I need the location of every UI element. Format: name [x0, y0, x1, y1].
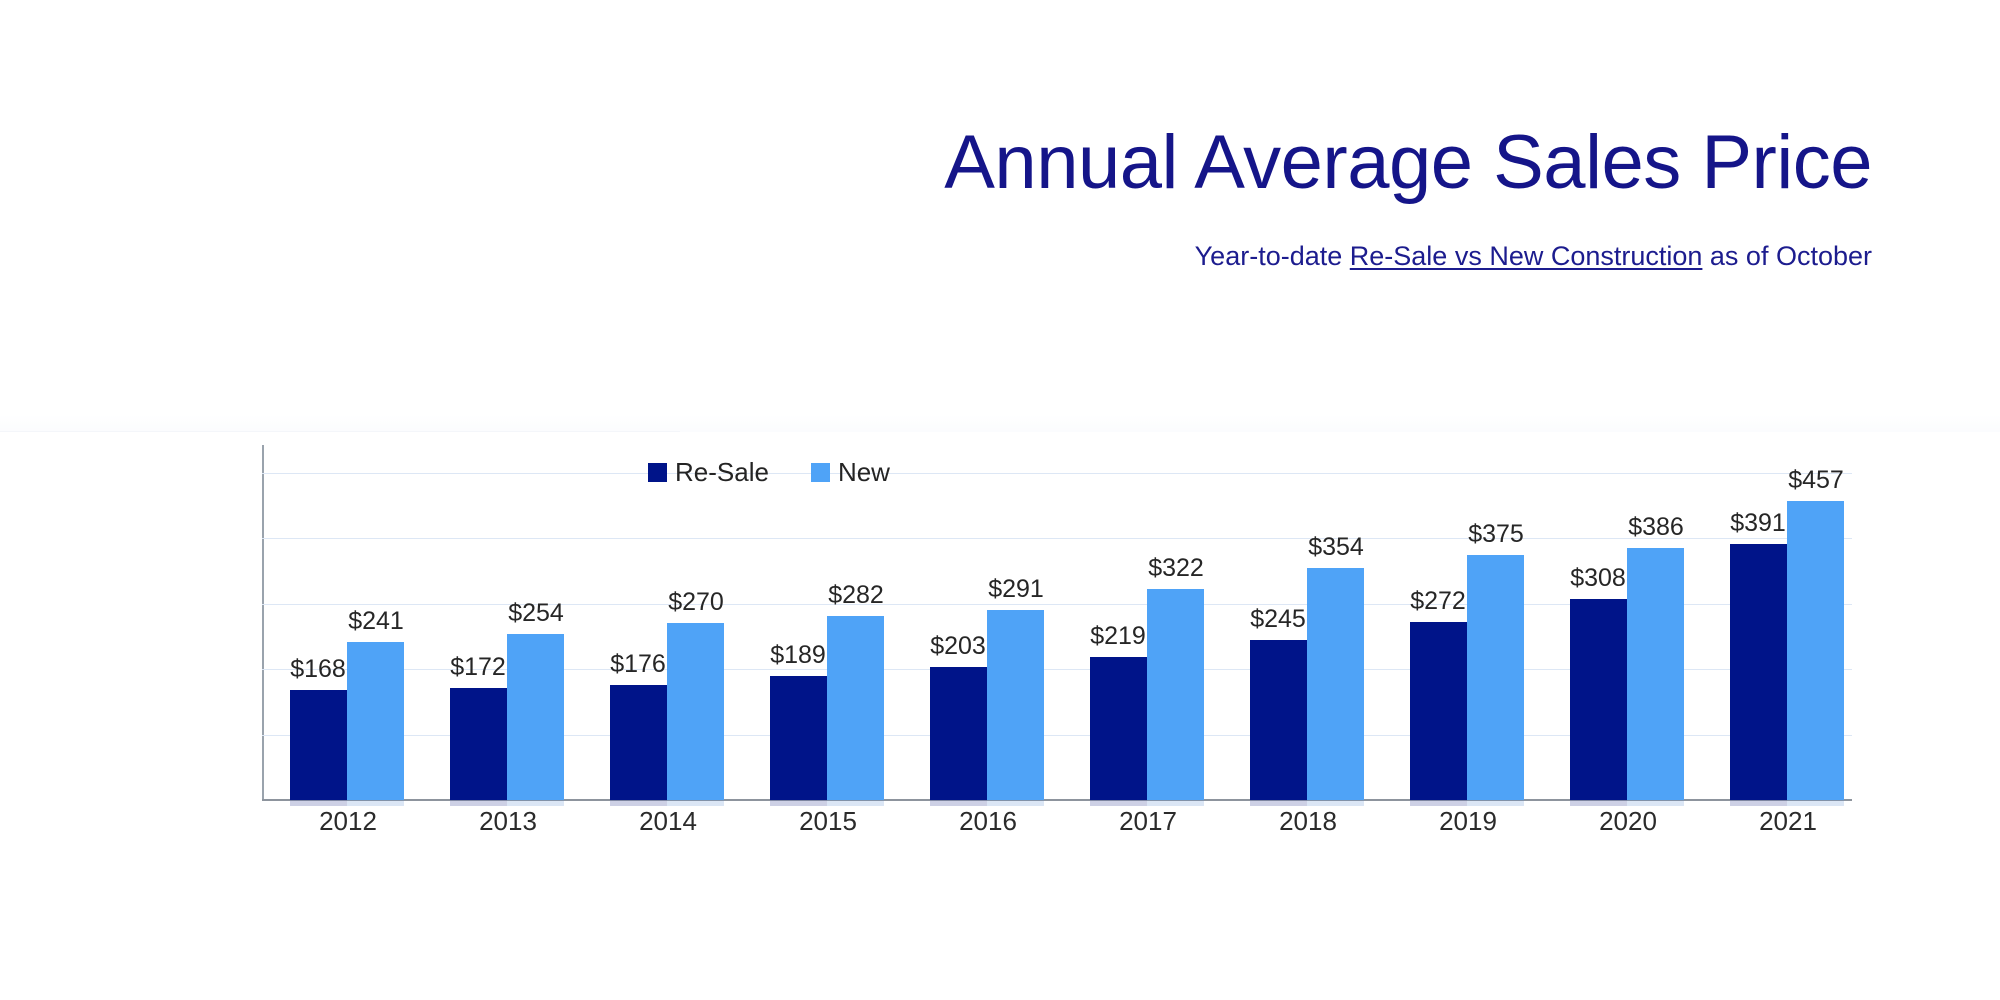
subtitle-underlined-text: Re-Sale vs New Construction [1350, 241, 1703, 271]
x-axis-category-label: 2018 [1228, 808, 1388, 834]
bar-new[interactable] [1467, 555, 1524, 800]
bar-value-label-new: $241 [336, 609, 416, 634]
x-axis-category-label: 2014 [588, 808, 748, 834]
bar-value-label-resale: $203 [918, 634, 998, 659]
bar-new[interactable] [667, 623, 724, 800]
bar-value-label-new: $375 [1456, 522, 1536, 547]
bar-group: $391$4572021 [1708, 473, 1868, 800]
legend-item-new[interactable]: New [811, 459, 890, 485]
bar-group: $219$3222017 [1068, 473, 1228, 800]
bar-resale[interactable] [290, 690, 347, 800]
bar-value-label-resale: $172 [438, 655, 518, 680]
bar-resale[interactable] [1250, 640, 1307, 800]
bar-value-label-new: $291 [976, 577, 1056, 602]
bar-resale[interactable] [930, 667, 987, 800]
bar-value-label-resale: $245 [1238, 607, 1318, 632]
bar-group: $308$3862020 [1548, 473, 1708, 800]
bar-chart-plot-area: $0K$100K$200K$300K$400K$500K$168$2412012… [262, 473, 1852, 800]
bar-resale[interactable] [1090, 657, 1147, 800]
bar-group: $172$2542013 [428, 473, 588, 800]
page-subtitle: Year-to-date Re-Sale vs New Construction… [1195, 243, 1872, 270]
subtitle-suffix: as of October [1702, 241, 1872, 271]
x-axis-category-label: 2016 [908, 808, 1068, 834]
bar-value-label-new: $282 [816, 583, 896, 608]
chart-legend: Re-Sale New [648, 459, 890, 485]
bar-group: $176$2702014 [588, 473, 748, 800]
bar-value-label-resale: $189 [758, 643, 838, 668]
bar-new[interactable] [1627, 548, 1684, 800]
x-axis-category-label: 2015 [748, 808, 908, 834]
bar-new[interactable] [987, 610, 1044, 800]
x-axis-category-label: 2019 [1388, 808, 1548, 834]
subtitle-prefix: Year-to-date [1195, 241, 1350, 271]
bar-new[interactable] [1147, 589, 1204, 800]
x-axis-category-label: 2012 [268, 808, 428, 834]
legend-item-resale[interactable]: Re-Sale [648, 459, 769, 485]
bar-value-label-new: $254 [496, 601, 576, 626]
bar-value-label-resale: $391 [1718, 511, 1798, 536]
bar-value-label-new: $270 [656, 590, 736, 615]
bar-value-label-new: $354 [1296, 535, 1376, 560]
bar-new[interactable] [827, 616, 884, 800]
bar-resale[interactable] [1730, 544, 1787, 800]
x-axis-category-label: 2020 [1548, 808, 1708, 834]
bar-value-label-new: $322 [1136, 556, 1216, 581]
legend-label-new: New [838, 459, 890, 485]
bar-resale[interactable] [770, 676, 827, 800]
x-axis-category-label: 2017 [1068, 808, 1228, 834]
bar-group: $272$3752019 [1388, 473, 1548, 800]
slide-background-band [0, 0, 2000, 432]
bar-resale[interactable] [1570, 599, 1627, 800]
bar-value-label-new: $386 [1616, 515, 1696, 540]
bar-resale[interactable] [1410, 622, 1467, 800]
bar-new[interactable] [347, 642, 404, 800]
bar-group: $189$2822015 [748, 473, 908, 800]
page-title: Annual Average Sales Price [944, 125, 1872, 201]
bar-group: $245$3542018 [1228, 473, 1388, 800]
x-axis-category-label: 2013 [428, 808, 588, 834]
bar-new[interactable] [1787, 501, 1844, 800]
slide-edge-line [0, 431, 680, 432]
bar-resale[interactable] [450, 688, 507, 800]
legend-label-resale: Re-Sale [675, 459, 769, 485]
bar-new[interactable] [507, 634, 564, 800]
bar-new[interactable] [1307, 568, 1364, 800]
bar-resale[interactable] [610, 685, 667, 800]
bar-value-label-resale: $272 [1398, 589, 1478, 614]
bar-group: $203$2912016 [908, 473, 1068, 800]
bar-group: $168$2412012 [268, 473, 428, 800]
legend-swatch-new-icon [811, 463, 830, 482]
bar-value-label-resale: $308 [1558, 566, 1638, 591]
bar-value-label-resale: $219 [1078, 624, 1158, 649]
bar-value-label-new: $457 [1776, 468, 1856, 493]
bar-value-label-resale: $176 [598, 652, 678, 677]
x-axis-category-label: 2021 [1708, 808, 1868, 834]
legend-swatch-resale-icon [648, 463, 667, 482]
bar-value-label-resale: $168 [278, 657, 358, 682]
